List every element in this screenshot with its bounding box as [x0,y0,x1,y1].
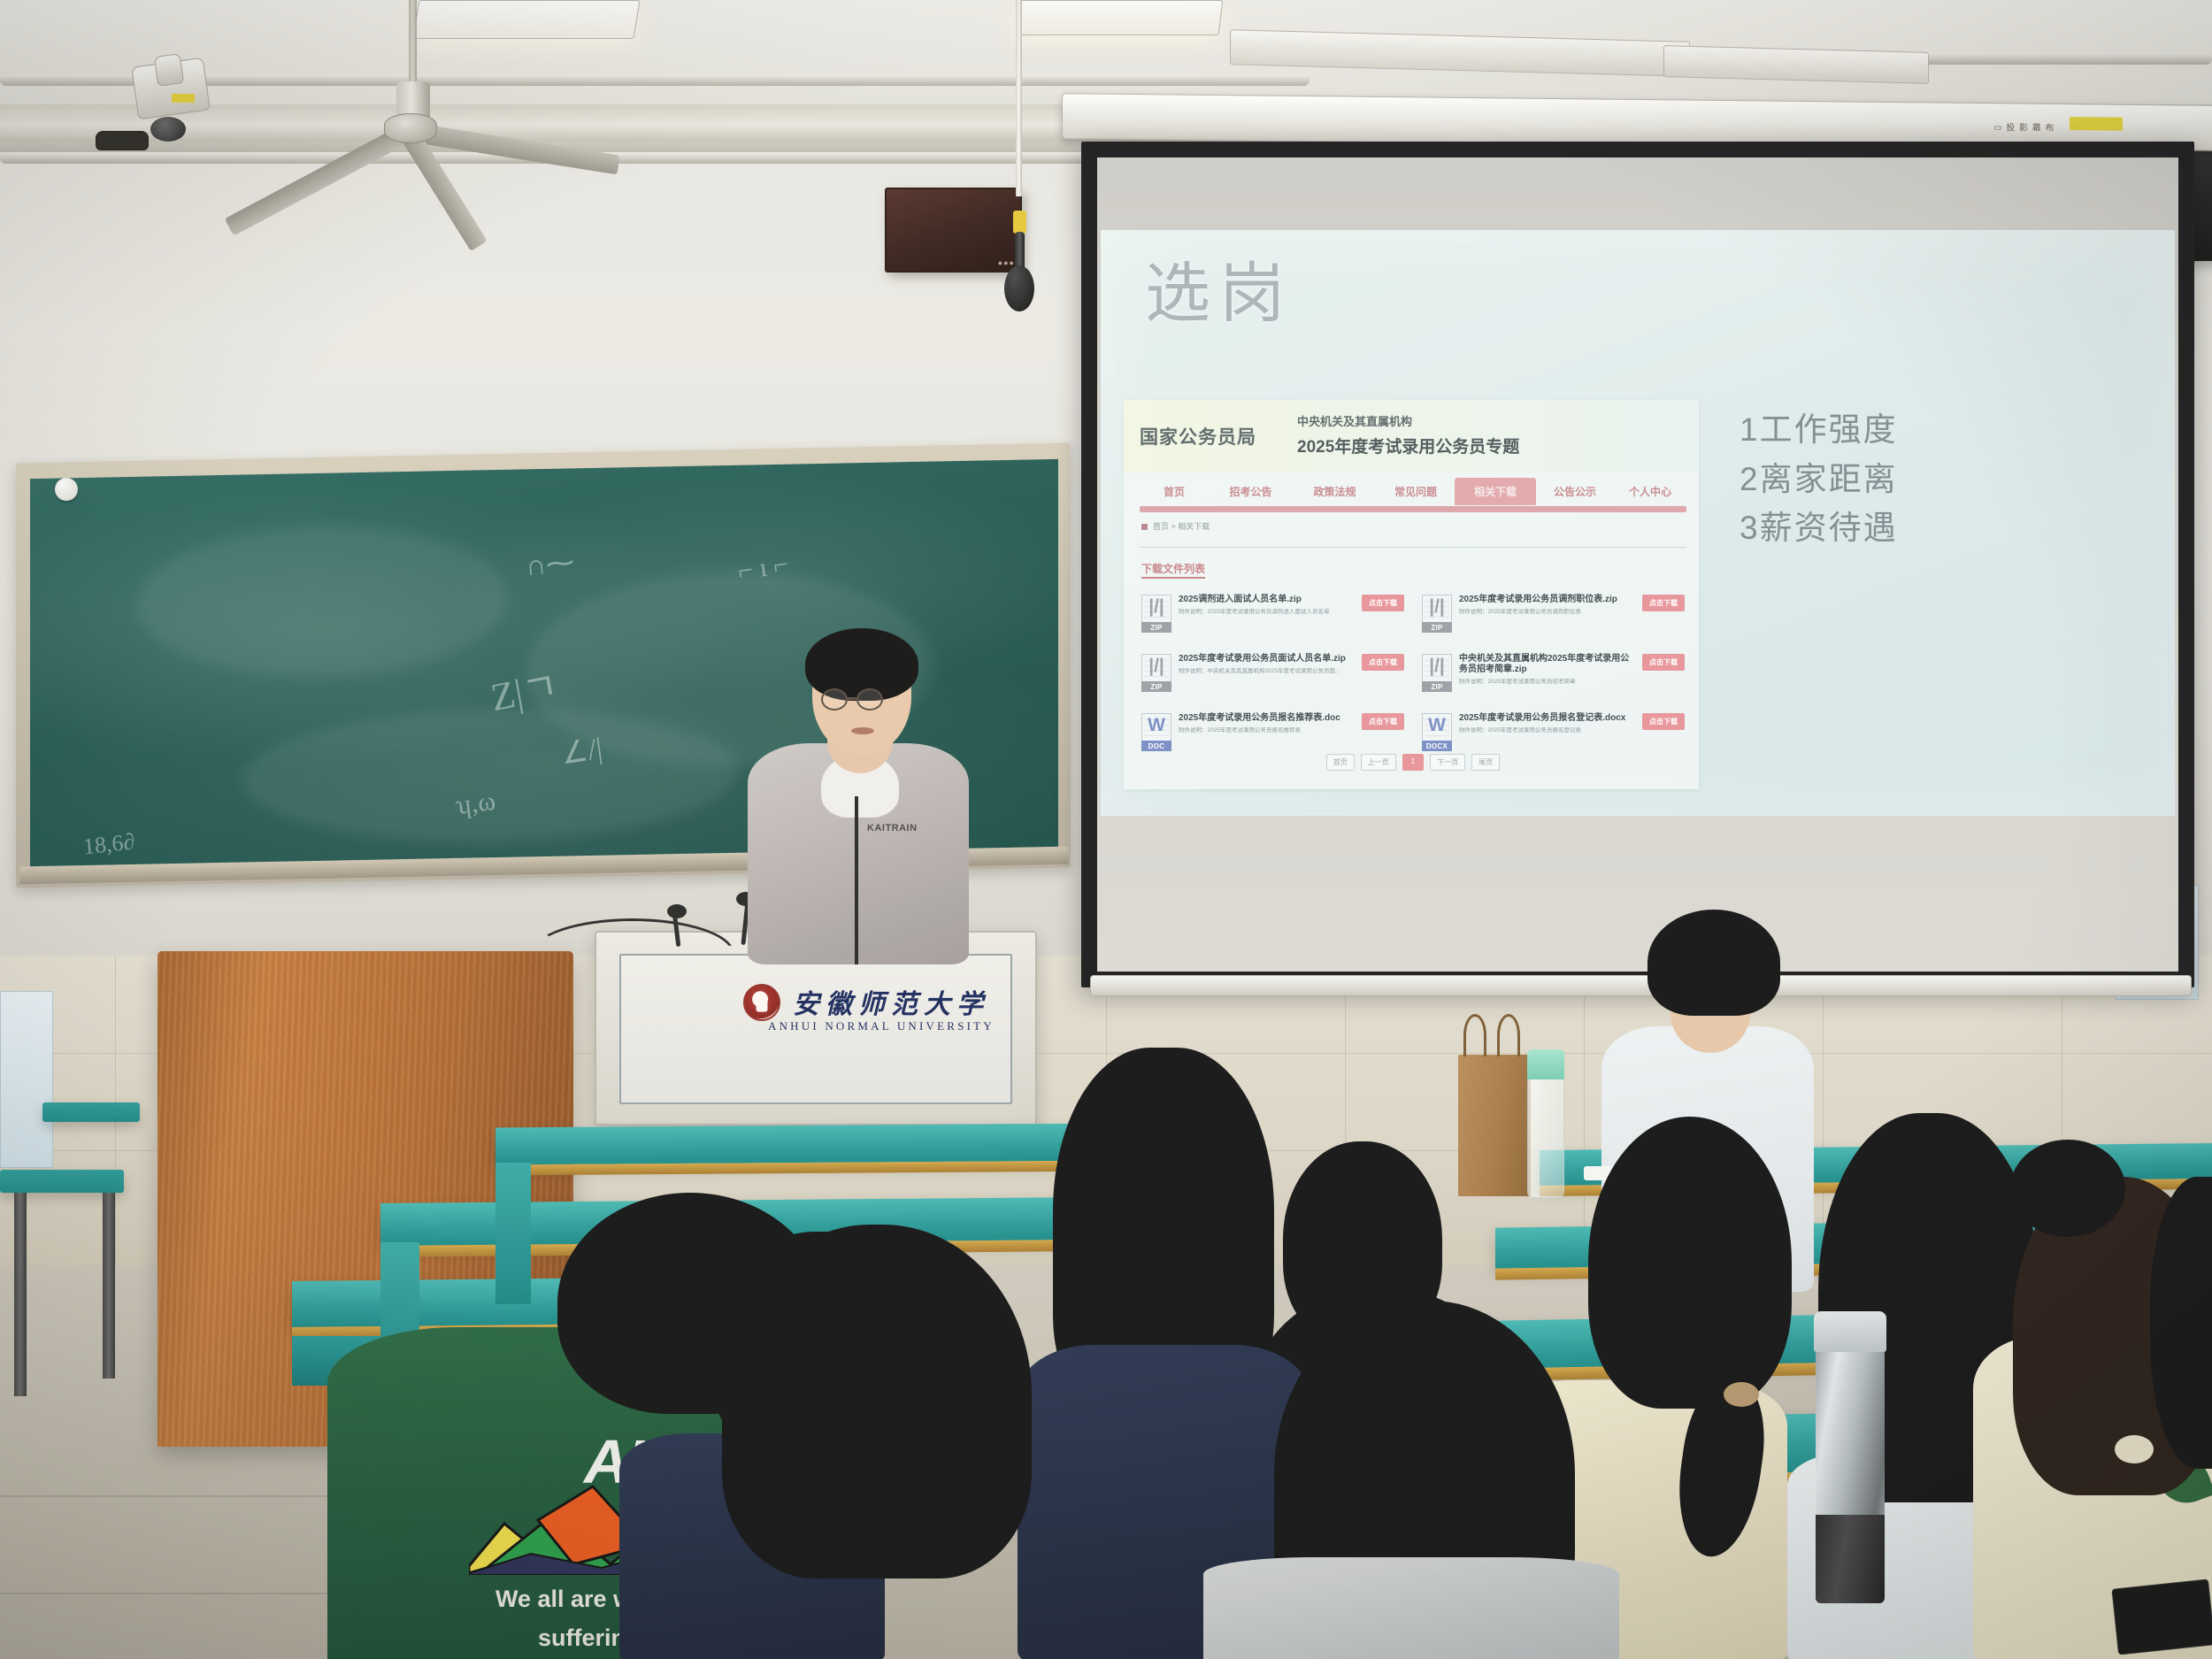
file-description: 附件说明：2025年度考试录用公务员调剂进入面试人员名单 [1179,609,1355,616]
mic-capsule-icon [667,904,687,918]
file-name: 2025调剂进入面试人员名单.zip [1179,595,1355,605]
file-name: 2025年度考试录用公务员报名登记表.docx [1459,713,1635,724]
chalk-writing: ∩⁓ [525,544,576,582]
slide-title: 选岗 [1145,241,1294,335]
file-type-tag: ZIP [1422,622,1452,633]
presenter-glasses-icon [821,688,906,711]
pagination-prev[interactable]: 上一页 [1361,754,1396,771]
fan-hub [384,113,437,143]
breadcrumb-text: 首页 > 相关下载 [1153,522,1210,531]
screen-case-tag [2070,117,2123,131]
thermos-cap [1814,1311,1886,1352]
file-type-tag: ZIP [1422,681,1452,692]
download-button[interactable]: 点击下载 [1642,654,1685,671]
classroom-photo: ●●● ∩⁓ ⌐ ı ⌐ Z|ㄱ ∠/| ʮ,ω 18,6∂ ▭ 投 影 幕 布 [0,0,2212,1659]
file-item[interactable]: W DOC 2025年度考试录用公务员报名推荐表.doc 附件说明：2025年度… [1140,710,1406,755]
chalk-writing: ∠/| [558,731,604,772]
chalk-smudge [242,704,738,847]
file-type-tag: DOCX [1422,741,1452,751]
breadcrumb: 首页 > 相关下载 [1141,520,1210,532]
key-point-1: 1工作强度 [1740,405,1898,455]
wall-speaker-left: ●●● [885,188,1022,273]
screen-case-brand: ▭ 投 影 幕 布 [1993,119,2055,134]
presenter-mouth [851,727,874,734]
file-sheet: |/| [1141,654,1171,681]
download-button[interactable]: 点击下载 [1362,713,1404,730]
file-sheet: |/| [1141,595,1171,622]
audience-hair [1588,1117,1792,1409]
nav-item-notices[interactable]: 公告公示 [1536,478,1614,505]
file-type-tag: ZIP [1141,622,1171,633]
ceiling-light-1 [413,0,641,39]
site-subtitle-line2: 2025年度考试录用公务员专题 [1297,434,1519,457]
floor-seam [0,1593,380,1594]
glasses-lens-right [856,688,883,710]
board-magnet [55,478,78,501]
file-item[interactable]: |/| ZIP 2025年度考试录用公务员面试人员名单.zip 附件说明：中央机… [1140,650,1406,695]
nav-underline [1140,506,1686,512]
university-name-en: ANHUI NORMAL UNIVERSITY [768,1019,995,1033]
presenter-jacket-brand: KAITRAIN [867,823,918,833]
zip-file-icon: |/| ZIP [1422,654,1452,692]
side-desk-top [0,1170,124,1193]
bag-handle [1463,1014,1486,1056]
file-description: 附件说明：2025年度考试录用公务员调剂职位表 [1459,609,1635,616]
side-desk-top [42,1102,140,1122]
content-divider [1140,547,1686,548]
university-name-cn: 安徽师范大学 [793,982,989,1021]
nav-item-home[interactable]: 首页 [1140,478,1209,505]
docx-file-icon: W DOCX [1422,713,1452,751]
zip-glyph: |/| [1142,597,1171,616]
download-button[interactable]: 点击下载 [1642,595,1685,611]
pagination-page-1[interactable]: 1 [1402,754,1424,771]
file-type-tag: ZIP [1141,681,1171,692]
home-icon [1141,524,1148,530]
bench-side-panel [495,1163,531,1304]
smartphone[interactable] [2111,1578,2212,1655]
embedded-website-screenshot: 国家公务员局 中央机关及其直属机构 2025年度考试录用公务员专题 首页 招考公… [1124,400,1699,789]
file-item[interactable]: |/| ZIP 2025调剂进入面试人员名单.zip 附件说明：2025年度考试… [1140,591,1406,636]
file-sheet: |/| [1422,595,1452,622]
section-title-underline [1141,577,1205,579]
download-file-list: |/| ZIP 2025调剂进入面试人员名单.zip 附件说明：2025年度考试… [1140,591,1686,755]
chalk-writing: 18,6∂ [82,828,136,860]
key-point-3: 3薪资待遇 [1740,503,1898,553]
audience-body [1203,1557,1619,1659]
projector-screen-bottom-bar [1090,975,2192,996]
file-name: 2025年度考试录用公务员报名推荐表.doc [1179,713,1355,724]
site-logo: 国家公务员局 [1140,423,1256,449]
file-sheet: |/| [1422,654,1452,681]
chalk-smudge [136,523,508,680]
section-title: 下载文件列表 [1141,561,1205,576]
file-description: 附件说明：中央机关及其直属机构2025年度考试录用公务员面... [1179,668,1355,675]
pagination-next[interactable]: 下一页 [1430,754,1465,771]
side-desk-leg [14,1193,27,1396]
hanging-mic-head-icon [1004,265,1034,311]
audience-hair [1647,910,1780,1016]
thermos-base [1816,1515,1885,1603]
tile-grout-line [1823,956,1824,1265]
water-bottle [1527,1072,1564,1198]
zip-file-icon: |/| ZIP [1422,595,1452,633]
glasses-bridge [847,697,859,700]
side-desk-leg [103,1193,115,1379]
bench-row-left-rear [495,1124,1115,1165]
zip-file-icon: |/| ZIP [1141,654,1171,692]
camera-dome-icon [150,117,186,142]
file-description: 附件说明：2025年度考试录用公务员报名推荐表 [1179,727,1355,734]
download-button[interactable]: 点击下载 [1642,713,1685,730]
nav-item-personal-center[interactable]: 个人中心 [1614,478,1686,505]
wall-panel-left [0,991,53,1168]
hanging-mic-wire [1016,0,1022,196]
hair-scrunchie [2115,1435,2154,1463]
camera-arm [154,53,184,87]
nav-item-announcements[interactable]: 招考公告 [1209,478,1293,505]
file-item[interactable]: W DOCX 2025年度考试录用公务员报名登记表.docx 附件说明：2025… [1420,710,1686,755]
zip-file-icon: |/| ZIP [1141,595,1171,633]
bag-handle [1497,1014,1520,1056]
ceiling-light-2 [1016,0,1224,35]
file-name: 2025年度考试录用公务员面试人员名单.zip [1179,654,1355,664]
file-description: 附件说明：2025年度考试录用公务员招考简章 [1459,679,1635,686]
file-name: 2025年度考试录用公务员调剂职位表.zip [1459,595,1635,605]
file-item[interactable]: |/| ZIP 2025年度考试录用公务员调剂职位表.zip 附件说明：2025… [1420,591,1686,636]
doc-file-icon: W DOC [1141,713,1171,751]
nav-item-policy[interactable]: 政策法规 [1293,478,1377,505]
file-description: 附件说明：2025年度考试录用公务员报名登记表 [1459,727,1635,734]
zip-glyph: |/| [1423,657,1451,675]
audience-hair-bun [2010,1140,2125,1237]
glasses-lens-left [821,688,848,710]
fan-rod [409,0,417,85]
tile-grout-line [1584,956,1585,1265]
pagination-first[interactable]: 首页 [1326,754,1355,771]
site-subtitle-line1: 中央机关及其直属机构 [1297,412,1412,429]
download-button[interactable]: 点击下载 [1362,654,1404,671]
hair-scrunchie [1724,1382,1759,1407]
download-button[interactable]: 点击下载 [1362,595,1404,611]
projected-slide: 选岗 国家公务员局 中央机关及其直属机构 2025年度考试录用公务员专题 首页 … [1101,230,2175,816]
water-bottle-cap [1527,1049,1564,1079]
slide-key-points: 1工作强度 2离家距离 3薪资待遇 [1740,405,1898,553]
key-point-2: 2离家距离 [1740,455,1898,504]
chalk-writing: ʮ,ω [453,787,496,821]
camera-label-tag [172,94,195,103]
site-nav[interactable]: 首页 招考公告 政策法规 常见问题 相关下载 公告公示 个人中心 [1140,478,1686,505]
hanging-mic-clip [1013,211,1026,234]
zip-glyph: |/| [1142,657,1171,675]
file-item[interactable]: |/| ZIP 中央机关及其直属机构2025年度考试录用公务员招考简章.zip … [1420,650,1686,695]
zip-glyph: |/| [1423,597,1451,616]
word-glyph: W [1423,716,1451,734]
nav-item-faq[interactable]: 常见问题 [1377,478,1455,505]
camera-bracket [96,131,149,150]
file-sheet: W [1422,713,1452,741]
word-glyph: W [1142,716,1171,734]
presenter-jacket-zipper [855,796,858,964]
file-name: 中央机关及其直属机构2025年度考试录用公务员招考简章.zip [1459,654,1635,675]
audience-hair [722,1225,1032,1578]
speaker-brand-mark: ●●● [998,258,1015,267]
nav-item-downloads[interactable]: 相关下载 [1455,478,1536,505]
university-seal-icon [743,984,780,1021]
file-sheet: W [1141,713,1171,741]
file-type-tag: DOC [1141,741,1171,751]
pagination-last[interactable]: 尾页 [1471,754,1500,771]
pagination[interactable]: 首页 上一页 1 下一页 尾页 [1140,754,1686,771]
paper-shopping-bag [1458,1055,1531,1196]
